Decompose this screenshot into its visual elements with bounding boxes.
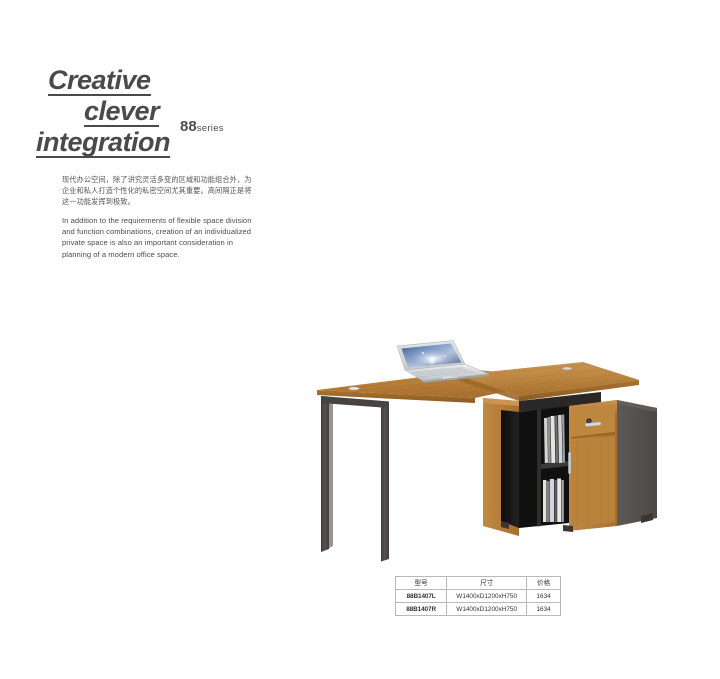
series-label: 88series	[180, 118, 224, 136]
laptop	[397, 341, 489, 384]
shelf-books-lower	[543, 479, 564, 523]
series-number: 88	[180, 118, 197, 135]
cabinet-foot-mid	[563, 525, 573, 532]
cabinet-divider	[537, 410, 541, 527]
headline-line-3-wrap: integration	[36, 130, 296, 158]
headline-line-1-wrap: Creative	[36, 68, 296, 96]
cabinet-door[interactable]	[571, 436, 615, 527]
cabinet-right-side	[617, 400, 657, 526]
storage-cabinet	[483, 398, 657, 536]
cell-model: 88B1407R	[396, 603, 447, 616]
headline-line-2-wrap: clever	[36, 99, 296, 127]
spec-table: 型号 尺寸 价格 88B1407L W1400xD1200xH750 1634 …	[395, 576, 561, 616]
spec-table-header-row: 型号 尺寸 价格	[396, 577, 561, 590]
headline-line-1: Creative	[48, 68, 151, 96]
table-row: 88B1407L W1400xD1200xH750 1634	[396, 590, 561, 603]
headline-block: Creative clever integration	[36, 68, 296, 158]
body-copy-english: In addition to the requirements of flexi…	[62, 215, 257, 260]
cable-grommet-2-icon	[562, 367, 572, 370]
spec-table-head: 型号 尺寸 价格	[396, 577, 561, 590]
product-photo	[305, 340, 665, 565]
door-handle[interactable]	[568, 452, 570, 474]
cell-model: 88B1407L	[396, 590, 447, 603]
headline-line-3: integration	[36, 130, 170, 158]
body-copy-english-text: In addition to the requirements of flexi…	[62, 215, 257, 260]
cell-size: W1400xD1200xH750	[447, 603, 527, 616]
cable-grommet-icon	[349, 387, 360, 390]
series-word: series	[197, 123, 224, 134]
cabinet-open-cavity-left	[501, 410, 519, 528]
catalog-page: Creative clever integration 88series 现代办…	[0, 0, 720, 679]
body-copy-chinese: 现代办公空间，除了讲究灵活多变的区域和功能组合外，为企业和私人打造个性化的私密空…	[62, 174, 252, 208]
cell-price: 1634	[527, 603, 561, 616]
product-illustration	[305, 340, 665, 565]
leg-inner-shadow	[329, 404, 333, 549]
spec-table-body: 88B1407L W1400xD1200xH750 1634 88B1407R …	[396, 590, 561, 616]
cabinet-drawer[interactable]	[571, 405, 615, 438]
desk-leg-right	[381, 401, 389, 562]
headline-line-2: clever	[84, 99, 159, 127]
column-header-size: 尺寸	[447, 577, 527, 590]
desk-leg-left	[321, 396, 329, 552]
cell-size: W1400xD1200xH750	[447, 590, 527, 603]
table-row: 88B1407R W1400xD1200xH750 1634	[396, 603, 561, 616]
cell-price: 1634	[527, 590, 561, 603]
column-header-price: 价格	[527, 577, 561, 590]
column-header-model: 型号	[396, 577, 447, 590]
desk-leg-frame	[321, 396, 389, 562]
